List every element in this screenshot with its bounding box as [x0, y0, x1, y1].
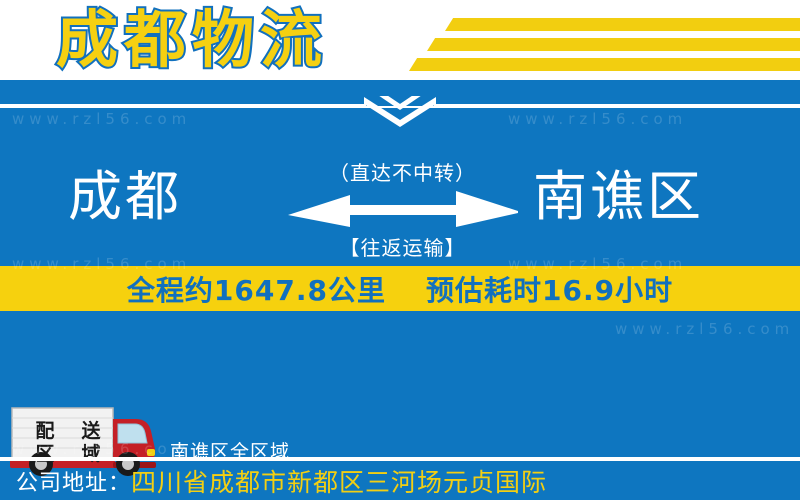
page-title: 成都物流 — [56, 2, 328, 78]
address-label: 公司地址： — [16, 465, 131, 497]
origin-city: 成都 — [68, 155, 182, 239]
duration-stat: 预估耗时16.9小时 — [426, 269, 673, 309]
address-bar: 公司地址： 四川省成都市新都区三河场元贞国际 — [0, 461, 800, 500]
distance-stat: 全程约1647.8公里 — [127, 269, 386, 309]
double-chevron-down-icon — [362, 96, 438, 136]
double-arrow-icon — [288, 187, 518, 231]
address-value: 四川省成都市新都区三河场元贞国际 — [131, 463, 547, 499]
decorative-stripe-2 — [427, 38, 800, 51]
header-zone: 成都物流 — [0, 0, 800, 80]
route-note-direct: （直达不中转） — [280, 157, 525, 186]
route-note-roundtrip: 【往返运输】 — [280, 232, 525, 261]
stats-band: 全程约1647.8公里 预估耗时16.9小时 — [0, 266, 800, 311]
delivery-row: 配 送 区 域 南谯区全区域 — [0, 320, 800, 430]
destination-city: 南谯区 — [533, 155, 704, 239]
logistics-banner: 成都物流 成都 （直达不中转） 【往返运输】 南谯区 — [0, 0, 800, 500]
decorative-stripe-1 — [445, 18, 800, 31]
route-row: 成都 （直达不中转） 【往返运输】 南谯区 — [0, 155, 800, 265]
decorative-stripe-3 — [409, 58, 800, 71]
main-body: 成都 （直达不中转） 【往返运输】 南谯区 全程约1647.8公里 预估耗时16… — [0, 80, 800, 500]
